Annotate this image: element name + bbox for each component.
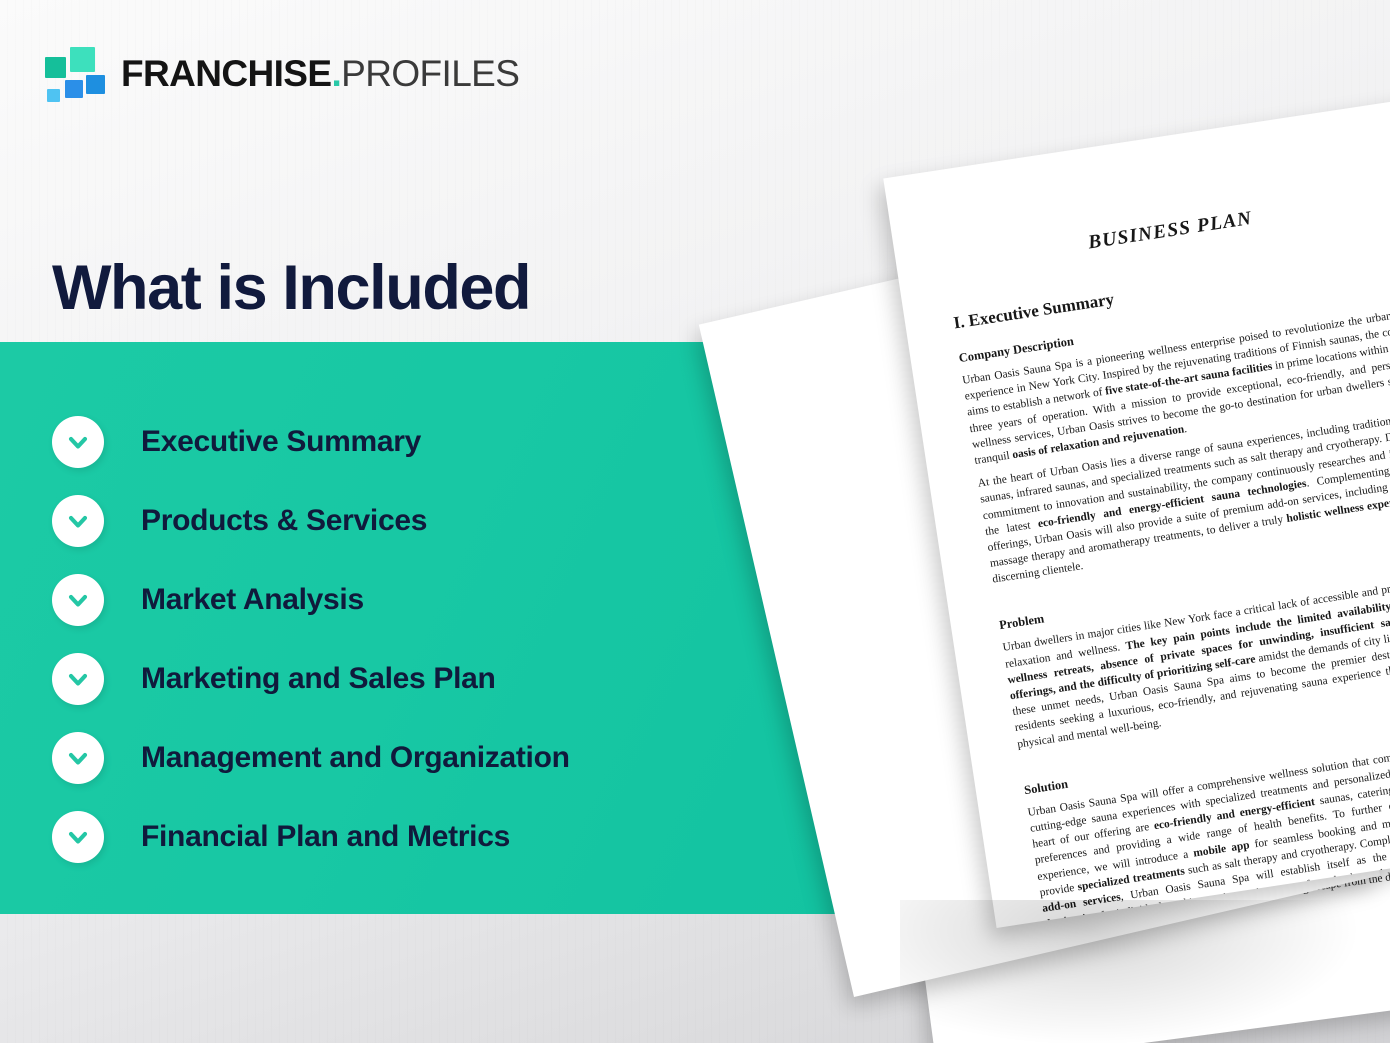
feature-item-products-services[interactable]: Products & Services — [52, 481, 812, 560]
document-paragraph: At the heart of Urban Oasis lies a diver… — [977, 406, 1390, 588]
chevron-down-icon — [52, 811, 104, 863]
chevron-down-icon — [52, 416, 104, 468]
slide-canvas: FRANCHISE.PROFILES What is Included Exec… — [0, 0, 1390, 1043]
logo-square-teal-light — [70, 47, 95, 72]
logo-dot: . — [331, 53, 341, 94]
feature-label: Management and Organization — [141, 741, 570, 775]
document-paragraph: Urban Oasis Sauna Spa will offer a compr… — [1027, 735, 1390, 928]
logo-word-bold: FRANCHISE — [121, 53, 331, 94]
page-title: What is Included — [52, 255, 530, 321]
brand-logo[interactable]: FRANCHISE.PROFILES — [45, 38, 519, 108]
document-page-back: as the go-to urban wellness destination … — [840, 263, 1390, 1043]
stack-drop-shadow — [900, 900, 1370, 1043]
document-subheading-company-description: Company Description — [958, 281, 1390, 366]
document-subheading-solution: Solution — [1023, 713, 1390, 798]
logo-square-teal-dark — [45, 57, 66, 78]
document-page-front: BUSINESS PLAN I. Executive Summary Compa… — [883, 96, 1390, 928]
logo-square-blue-light — [47, 89, 60, 102]
document-paragraph: Urban Oasis Sauna Spa is a pioneering we… — [961, 303, 1390, 469]
chevron-down-icon — [52, 574, 104, 626]
feature-item-market-analysis[interactable]: Market Analysis — [52, 560, 812, 639]
features-panel: Executive Summary Products & Services Ma… — [0, 342, 843, 914]
brand-logo-text: FRANCHISE.PROFILES — [121, 55, 519, 92]
feature-label: Financial Plan and Metrics — [141, 820, 510, 854]
feature-item-marketing-sales-plan[interactable]: Marketing and Sales Plan — [52, 639, 812, 718]
feature-item-management-organization[interactable]: Management and Organization — [52, 718, 812, 797]
feature-label: Marketing and Sales Plan — [141, 662, 496, 696]
document-paragraph: Urban dwellers in major cities like New … — [1002, 570, 1390, 752]
feature-item-financial-plan-metrics[interactable]: Financial Plan and Metrics — [52, 797, 812, 876]
feature-label: Market Analysis — [141, 583, 364, 617]
document-back-excerpt: as the go-to urban wellness destination … — [840, 263, 1390, 1043]
document-content: BUSINESS PLAN I. Executive Summary Compa… — [883, 96, 1390, 928]
five-squares-mark-icon — [45, 44, 107, 102]
feature-item-executive-summary[interactable]: Executive Summary — [52, 402, 812, 481]
chevron-down-icon — [52, 653, 104, 705]
feature-label: Products & Services — [141, 504, 427, 538]
chevron-down-icon — [52, 495, 104, 547]
logo-square-blue — [86, 75, 105, 94]
document-section-heading: I. Executive Summary — [952, 243, 1390, 333]
chevron-down-icon — [52, 732, 104, 784]
features-list: Executive Summary Products & Services Ma… — [52, 402, 812, 876]
feature-label: Executive Summary — [141, 425, 421, 459]
logo-square-blue-mid — [65, 80, 83, 98]
logo-word-light: PROFILES — [341, 53, 519, 94]
document-title: BUSINESS PLAN — [929, 184, 1390, 278]
document-subheading-problem: Problem — [998, 548, 1390, 633]
